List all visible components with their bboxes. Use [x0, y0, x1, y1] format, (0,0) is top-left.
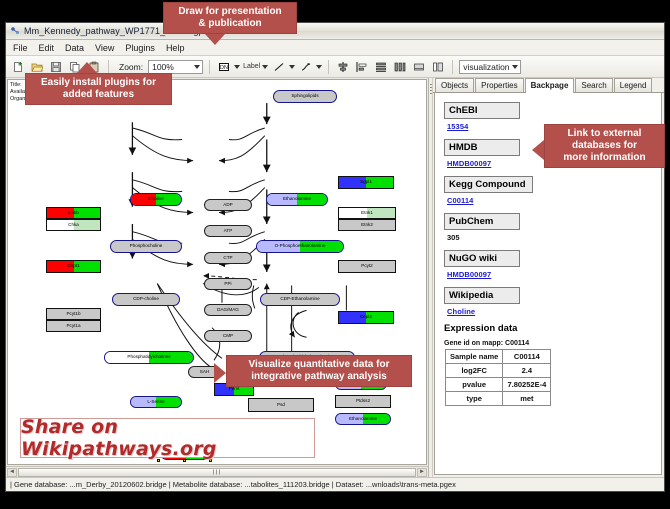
expression-data-title: Expression data [444, 323, 661, 334]
tab-search[interactable]: Search [575, 78, 612, 92]
node-label: ADP [223, 203, 232, 208]
table-row: log2FC 2.4 [446, 364, 551, 378]
visualize-callout: Visualize quantitative data for integrat… [226, 355, 412, 387]
node-label: CTP [223, 256, 232, 261]
node-chkb[interactable]: Chkb [46, 207, 101, 219]
menu-bar: File Edit Data View Plugins Help [6, 40, 664, 56]
scrollbar-thumb[interactable] [18, 468, 416, 477]
visualize-callout-line2: integrative pathway analysis [233, 371, 405, 383]
table-row: Sample name C00114 [446, 350, 551, 364]
link-callout: Link to external databases for more info… [544, 124, 665, 168]
expr-key: log2FC [446, 364, 503, 378]
node-choline-top[interactable]: Choline [130, 193, 182, 206]
node-ethanolamine-bottom[interactable]: Ethanolamine [335, 413, 391, 425]
node-label: Ethanolamine [349, 417, 377, 422]
node-label: PPi [224, 282, 231, 287]
table-row: type met [446, 392, 551, 406]
node-psd[interactable]: Psd [248, 398, 314, 412]
node-etnk1[interactable]: Etnk1 [338, 207, 396, 219]
node-sgpl1[interactable]: Sgpl1 [338, 176, 394, 189]
info-organism-line: Organ [10, 96, 25, 103]
visualization-value: visualization [463, 62, 509, 72]
zoom-value: 100% [152, 62, 174, 72]
menu-help[interactable]: Help [165, 43, 186, 53]
menu-edit[interactable]: Edit [38, 43, 56, 53]
db-section-nugo: NuGO wiki HMDB00097 [444, 248, 661, 279]
node-label: L-Serine [147, 400, 164, 405]
share-callout: Share on Wikipathways.org [20, 418, 315, 458]
callout-pointer-down [205, 34, 225, 45]
expr-key: type [446, 392, 503, 406]
interaction-tool-icon[interactable] [298, 59, 314, 75]
node-label: CMP [223, 334, 233, 339]
pathvisio-icon [10, 26, 20, 36]
node-o-phosphoethanolamine[interactable]: O-Phosphoethanolamine [256, 240, 344, 253]
tab-legend[interactable]: Legend [614, 78, 653, 92]
group-icon[interactable] [411, 59, 427, 75]
menu-plugins[interactable]: Plugins [124, 43, 156, 53]
tab-objects[interactable]: Objects [435, 78, 474, 92]
db-title-hmdb: HMDB [444, 139, 520, 156]
zoom-combo[interactable]: 100% [148, 60, 203, 74]
node-pcyt1b[interactable]: Pcyt1b [46, 308, 101, 320]
node-cdp-ethanolamine[interactable]: CDP-Ethanolamine [260, 293, 340, 306]
db-title-kegg: Kegg Compound [444, 176, 533, 193]
align-center-icon[interactable] [335, 59, 351, 75]
node-ptdss2[interactable]: Ptdss2 [335, 395, 391, 408]
expr-value: C00114 [503, 350, 551, 364]
zoom-label: Zoom: [119, 62, 143, 72]
db-value-pubchem: 305 [447, 233, 661, 242]
align-left-icon[interactable] [354, 59, 370, 75]
draw-callout-line1: Draw for presentation [170, 6, 290, 18]
draw-callout: Draw for presentation & publication [163, 2, 297, 34]
label-dropdown-icon[interactable] [262, 65, 268, 69]
node-label: SAH [200, 370, 209, 375]
node-label: O-Phosphoethanolamine [275, 244, 326, 249]
expr-value: met [503, 392, 551, 406]
node-chpt1[interactable]: Chpt1 [46, 260, 101, 273]
node-label: Etnk1 [361, 211, 373, 216]
status-text: | Gene database: ...m_Derby_20120602.bri… [10, 480, 456, 489]
node-l-serine-left[interactable]: L-Serine [130, 396, 182, 408]
link-callout-line1: Link to external [551, 128, 658, 140]
db-title-wikipedia: Wikipedia [444, 287, 520, 304]
visualize-callout-line1: Visualize quantitative data for [233, 359, 405, 371]
info-title-line: Title: [10, 82, 25, 89]
node-ctp: CTP [204, 252, 252, 264]
plugins-callout-line1: Easily install plugins for [32, 77, 165, 89]
node-label: Chpt1 [67, 264, 79, 269]
datanode-icon[interactable]: DN [216, 59, 232, 75]
node-label: Ethanolamine [283, 197, 311, 202]
node-label: Phosphatidylcholines [127, 355, 170, 360]
expr-value: 7.80252E-4 [503, 378, 551, 392]
link-callout-line2: databases for [551, 140, 658, 152]
line-tool-icon[interactable] [271, 59, 287, 75]
expr-value: 2.4 [503, 364, 551, 378]
chevron-down-icon [512, 65, 518, 69]
db-link-nugo[interactable]: HMDB00097 [447, 270, 661, 279]
node-chka[interactable]: Chka [46, 219, 101, 231]
stack-vertical-icon[interactable] [373, 59, 389, 75]
node-label: Sgpl1 [360, 180, 372, 185]
info-availability-line: Availa [10, 89, 25, 96]
node-label: Pcyt2 [361, 264, 373, 269]
svg-text:DN: DN [220, 65, 228, 71]
toolbar-separator [209, 60, 210, 74]
db-link-kegg[interactable]: C00114 [447, 196, 661, 205]
menu-view[interactable]: View [94, 43, 115, 53]
splitter-grip-icon [430, 84, 432, 94]
canvas-horizontal-scrollbar[interactable]: ◄ ► [6, 466, 428, 477]
node-label: Chka [68, 223, 79, 228]
node-pcyt2[interactable]: Pcyt2 [338, 260, 396, 273]
node-label: Cept1 [360, 315, 372, 320]
scroll-right-icon[interactable]: ► [417, 468, 427, 477]
toolbar-separator [108, 60, 109, 74]
table-row: pvalue 7.80252E-4 [446, 378, 551, 392]
menu-file[interactable]: File [12, 43, 29, 53]
node-label: Pcyt1a [66, 324, 80, 329]
callout-pointer-up [77, 62, 97, 73]
node-label: Psd [277, 403, 285, 408]
pathway-info-block: Title: Availa Organ [10, 82, 25, 103]
plugins-callout: Easily install plugins for added feature… [25, 73, 172, 105]
share-callout-text: Share on Wikipathways.org [21, 416, 314, 460]
panel-tab-strip: Objects Properties Backpage Search Legen… [433, 78, 664, 93]
node-label: Etnk2 [361, 223, 373, 228]
node-label: Pcyt1b [66, 312, 80, 317]
db-title-nugo: NuGO wiki [444, 250, 520, 267]
menu-data[interactable]: Data [64, 43, 85, 53]
toolbar-separator [452, 60, 453, 74]
line-dropdown-icon[interactable] [289, 65, 295, 69]
new-file-icon[interactable] [10, 59, 26, 75]
chevron-down-icon [194, 65, 200, 69]
panel-splitter[interactable] [429, 78, 433, 477]
link-callout-line3: more information [551, 152, 658, 164]
node-label: ATP [224, 229, 233, 234]
distribute-horizontal-icon[interactable] [392, 59, 408, 75]
callout-pointer-right [214, 363, 226, 383]
expression-table: Sample name C00114 log2FC 2.4 pvalue 7.8… [445, 349, 551, 406]
datanode-dropdown-icon[interactable] [234, 65, 240, 69]
visualization-combo[interactable]: visualization [459, 60, 521, 74]
node-cmp: CMP [204, 330, 252, 342]
gene-id-label: Gene id on mapp: C00114 [444, 340, 661, 347]
node-label: Phosphocholine [130, 244, 163, 249]
node-cdp-choline[interactable]: CDP-choline [112, 293, 180, 306]
node-dag-mag: DAG/MAG [204, 304, 252, 316]
node-label: Choline [148, 197, 164, 202]
node-phosphatidylcholines[interactable]: Phosphatidylcholines [104, 351, 194, 364]
node-cept1[interactable]: Cept1 [338, 311, 394, 324]
db-title-pubchem: PubChem [444, 213, 520, 230]
toolbar-separator [328, 60, 329, 74]
node-ethanolamine-top[interactable]: Ethanolamine [266, 193, 328, 206]
node-ppi: PPi [204, 278, 252, 290]
node-adp: ADP [204, 199, 252, 211]
pathway-canvas[interactable]: Title: Availa Organ [7, 79, 427, 465]
node-label: DAG/MAG [217, 308, 239, 313]
node-atp: ATP [204, 225, 252, 237]
db-title-chebi: ChEBI [444, 102, 520, 119]
node-label: Chkb [68, 211, 79, 216]
node-etnk2[interactable]: Etnk2 [338, 219, 396, 231]
plugins-callout-line2: added features [32, 89, 165, 101]
node-label: CDP-choline [133, 297, 159, 302]
expr-key: pvalue [446, 378, 503, 392]
ungroup-icon[interactable] [430, 59, 446, 75]
node-pcyt1a[interactable]: Pcyt1a [46, 320, 101, 332]
node-label: Pemt [229, 387, 240, 392]
db-section-pubchem: PubChem 305 [444, 211, 661, 242]
callout-pointer-left [532, 140, 544, 160]
scroll-left-icon[interactable]: ◄ [7, 468, 17, 477]
interaction-dropdown-icon[interactable] [316, 65, 322, 69]
tab-backpage[interactable]: Backpage [525, 78, 575, 93]
tab-properties[interactable]: Properties [475, 78, 523, 92]
draw-callout-line2: & publication [170, 18, 290, 30]
db-section-wikipedia: Wikipedia Choline [444, 285, 661, 316]
status-bar: | Gene database: ...m_Derby_20120602.bri… [6, 477, 664, 491]
node-label: Sphingolipids [291, 94, 318, 99]
node-label: CDP-Ethanolamine [280, 297, 319, 302]
title-bar: Mm_Kennedy_pathway_WP1771_45176.gpml [6, 23, 664, 40]
node-phosphocholine[interactable]: Phosphocholine [110, 240, 182, 253]
db-link-wikipedia[interactable]: Choline [447, 307, 661, 316]
db-section-kegg: Kegg Compound C00114 [444, 174, 661, 205]
expr-key: Sample name [446, 350, 503, 364]
node-label: Ptdss2 [356, 399, 370, 404]
node-sphingolipids[interactable]: Sphingolipids [273, 90, 337, 103]
label-tool-label[interactable]: Label [243, 63, 260, 70]
